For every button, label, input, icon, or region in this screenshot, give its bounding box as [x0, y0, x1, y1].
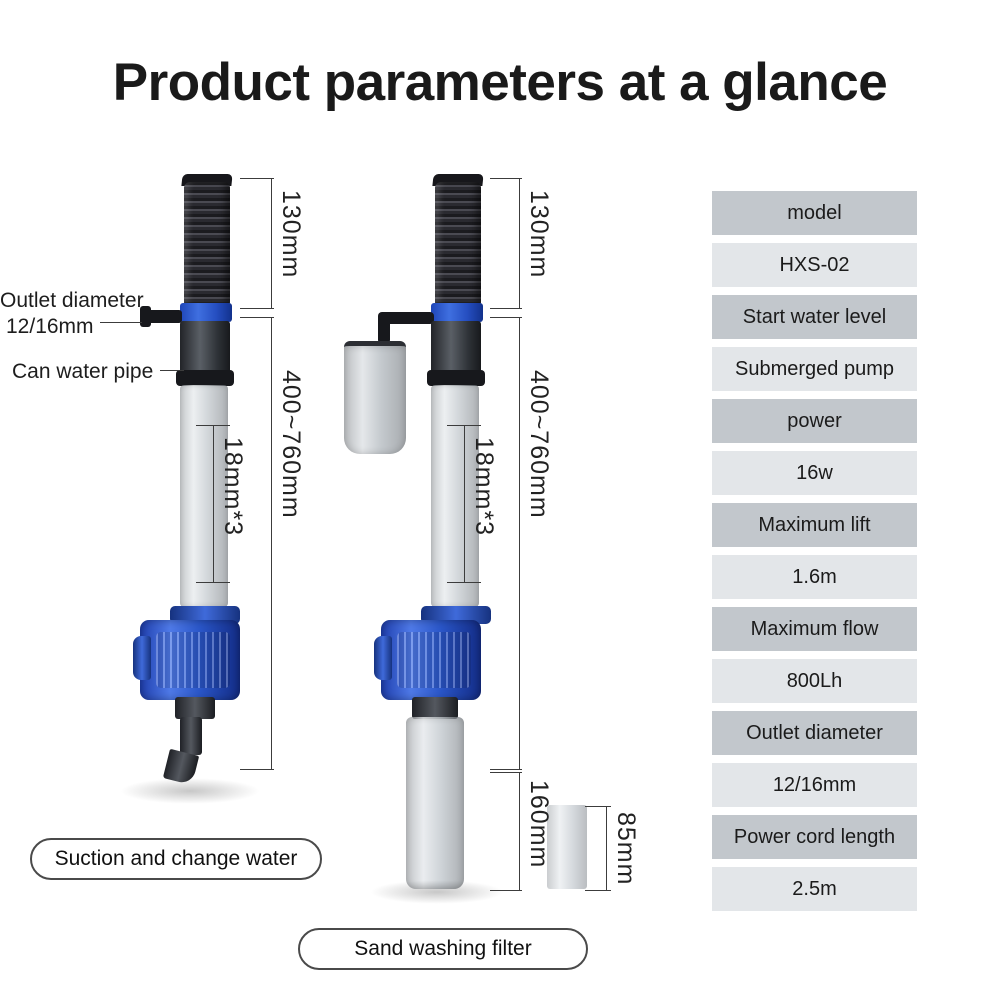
dim-tick-cap-bottom [585, 890, 611, 891]
spec-row: 16w [712, 451, 917, 495]
tube-joint-right [427, 370, 485, 386]
filter-elbow-vertical [378, 312, 390, 344]
corrugated-hose-right [435, 182, 481, 304]
right-device-shadow [370, 880, 504, 904]
tube-joint-left [176, 370, 234, 386]
dim-tick-hose-bottom-left [240, 308, 274, 309]
pump-outlet-stem-left [180, 717, 202, 755]
spec-row: Maximum flow [712, 607, 917, 651]
dim-tick-tube-top-left [240, 317, 274, 318]
sand-filter-cup [344, 341, 406, 454]
dim-tick-cylinder-bottom [490, 890, 522, 891]
dim-tick-dia-top-right [447, 425, 481, 426]
dim-line-dia-left [213, 425, 214, 582]
dim-line-hose-left [271, 178, 272, 308]
pump-outlet-base-right [412, 697, 458, 719]
dim-line-cylinder [519, 772, 520, 890]
dim-tick-dia-bottom-right [447, 582, 481, 583]
blue-collar-left [180, 303, 232, 322]
dim-line-cap [606, 806, 607, 890]
spec-row: 2.5m [712, 867, 917, 911]
dim-tick-dia-top-left [196, 425, 230, 426]
label-suction-and-change-water: Suction and change water [30, 838, 322, 880]
dim-line-hose-right [519, 178, 520, 308]
page-root: Product parameters at a glance 130mm 400… [0, 0, 1000, 1000]
dim-line-tube-right [519, 317, 520, 769]
pump-side-inlet-right [374, 636, 392, 680]
spec-row: Submerged pump [712, 347, 917, 391]
pump-ribs-right [397, 632, 471, 688]
pump-outlet-base-left [175, 697, 215, 719]
dim-tick-dia-bottom-left [196, 582, 230, 583]
sand-washing-cylinder [406, 717, 464, 889]
callout-water-pipe: Can water pipe [12, 360, 153, 384]
corrugated-hose-left [184, 182, 230, 304]
spec-row: Maximum lift [712, 503, 917, 547]
spec-row: 12/16mm [712, 763, 917, 807]
dim-label-cap: 85mm [611, 812, 640, 885]
dim-tick-hose-bottom-right [490, 308, 522, 309]
spec-row: 1.6m [712, 555, 917, 599]
dim-tick-tube-bottom-right [490, 769, 522, 770]
dim-label-dia-right: 18mm*3 [469, 437, 498, 536]
callout-leader-waterpipe [160, 370, 184, 371]
dim-tick-cylinder-top [490, 772, 522, 773]
dim-tick-tube-bottom-left [240, 769, 274, 770]
page-title: Product parameters at a glance [0, 52, 1000, 113]
pump-ribs-left [156, 632, 230, 688]
blue-collar-right [431, 303, 483, 322]
dim-tick-cap-top [585, 806, 611, 807]
dim-label-tube-left: 400~760mm [276, 370, 305, 519]
dim-tick-tube-top-right [490, 317, 522, 318]
pump-side-inlet-left [133, 636, 151, 680]
dim-tick-hose-top-left [240, 178, 274, 179]
callout-outlet-diameter: Outlet diameter [0, 289, 144, 313]
spec-row: Outlet diameter [712, 711, 917, 755]
dim-line-dia-right [464, 425, 465, 582]
outlet-nozzle-left [146, 310, 182, 323]
spec-row: Start water level [712, 295, 917, 339]
dim-label-tube-right: 400~760mm [524, 370, 553, 519]
detached-cap-cylinder [547, 805, 587, 889]
left-device-shadow [120, 778, 260, 804]
spec-row: HXS-02 [712, 243, 917, 287]
dim-label-cylinder: 160mm [524, 780, 553, 868]
callout-outlet-size: 12/16mm [6, 315, 94, 339]
spec-table: model HXS-02 Start water level Submerged… [712, 191, 917, 919]
spec-row: power [712, 399, 917, 443]
dim-label-dia-left: 18mm*3 [218, 437, 247, 536]
dim-label-hose-left: 130mm [276, 190, 305, 278]
callout-leader-outlet [100, 322, 142, 323]
dim-tick-hose-top-right [490, 178, 522, 179]
spec-row: 800Lh [712, 659, 917, 703]
spec-row: Power cord length [712, 815, 917, 859]
label-sand-washing-filter: Sand washing filter [298, 928, 588, 970]
dim-line-tube-left [271, 317, 272, 769]
dim-label-hose-right: 130mm [524, 190, 553, 278]
spec-row: model [712, 191, 917, 235]
